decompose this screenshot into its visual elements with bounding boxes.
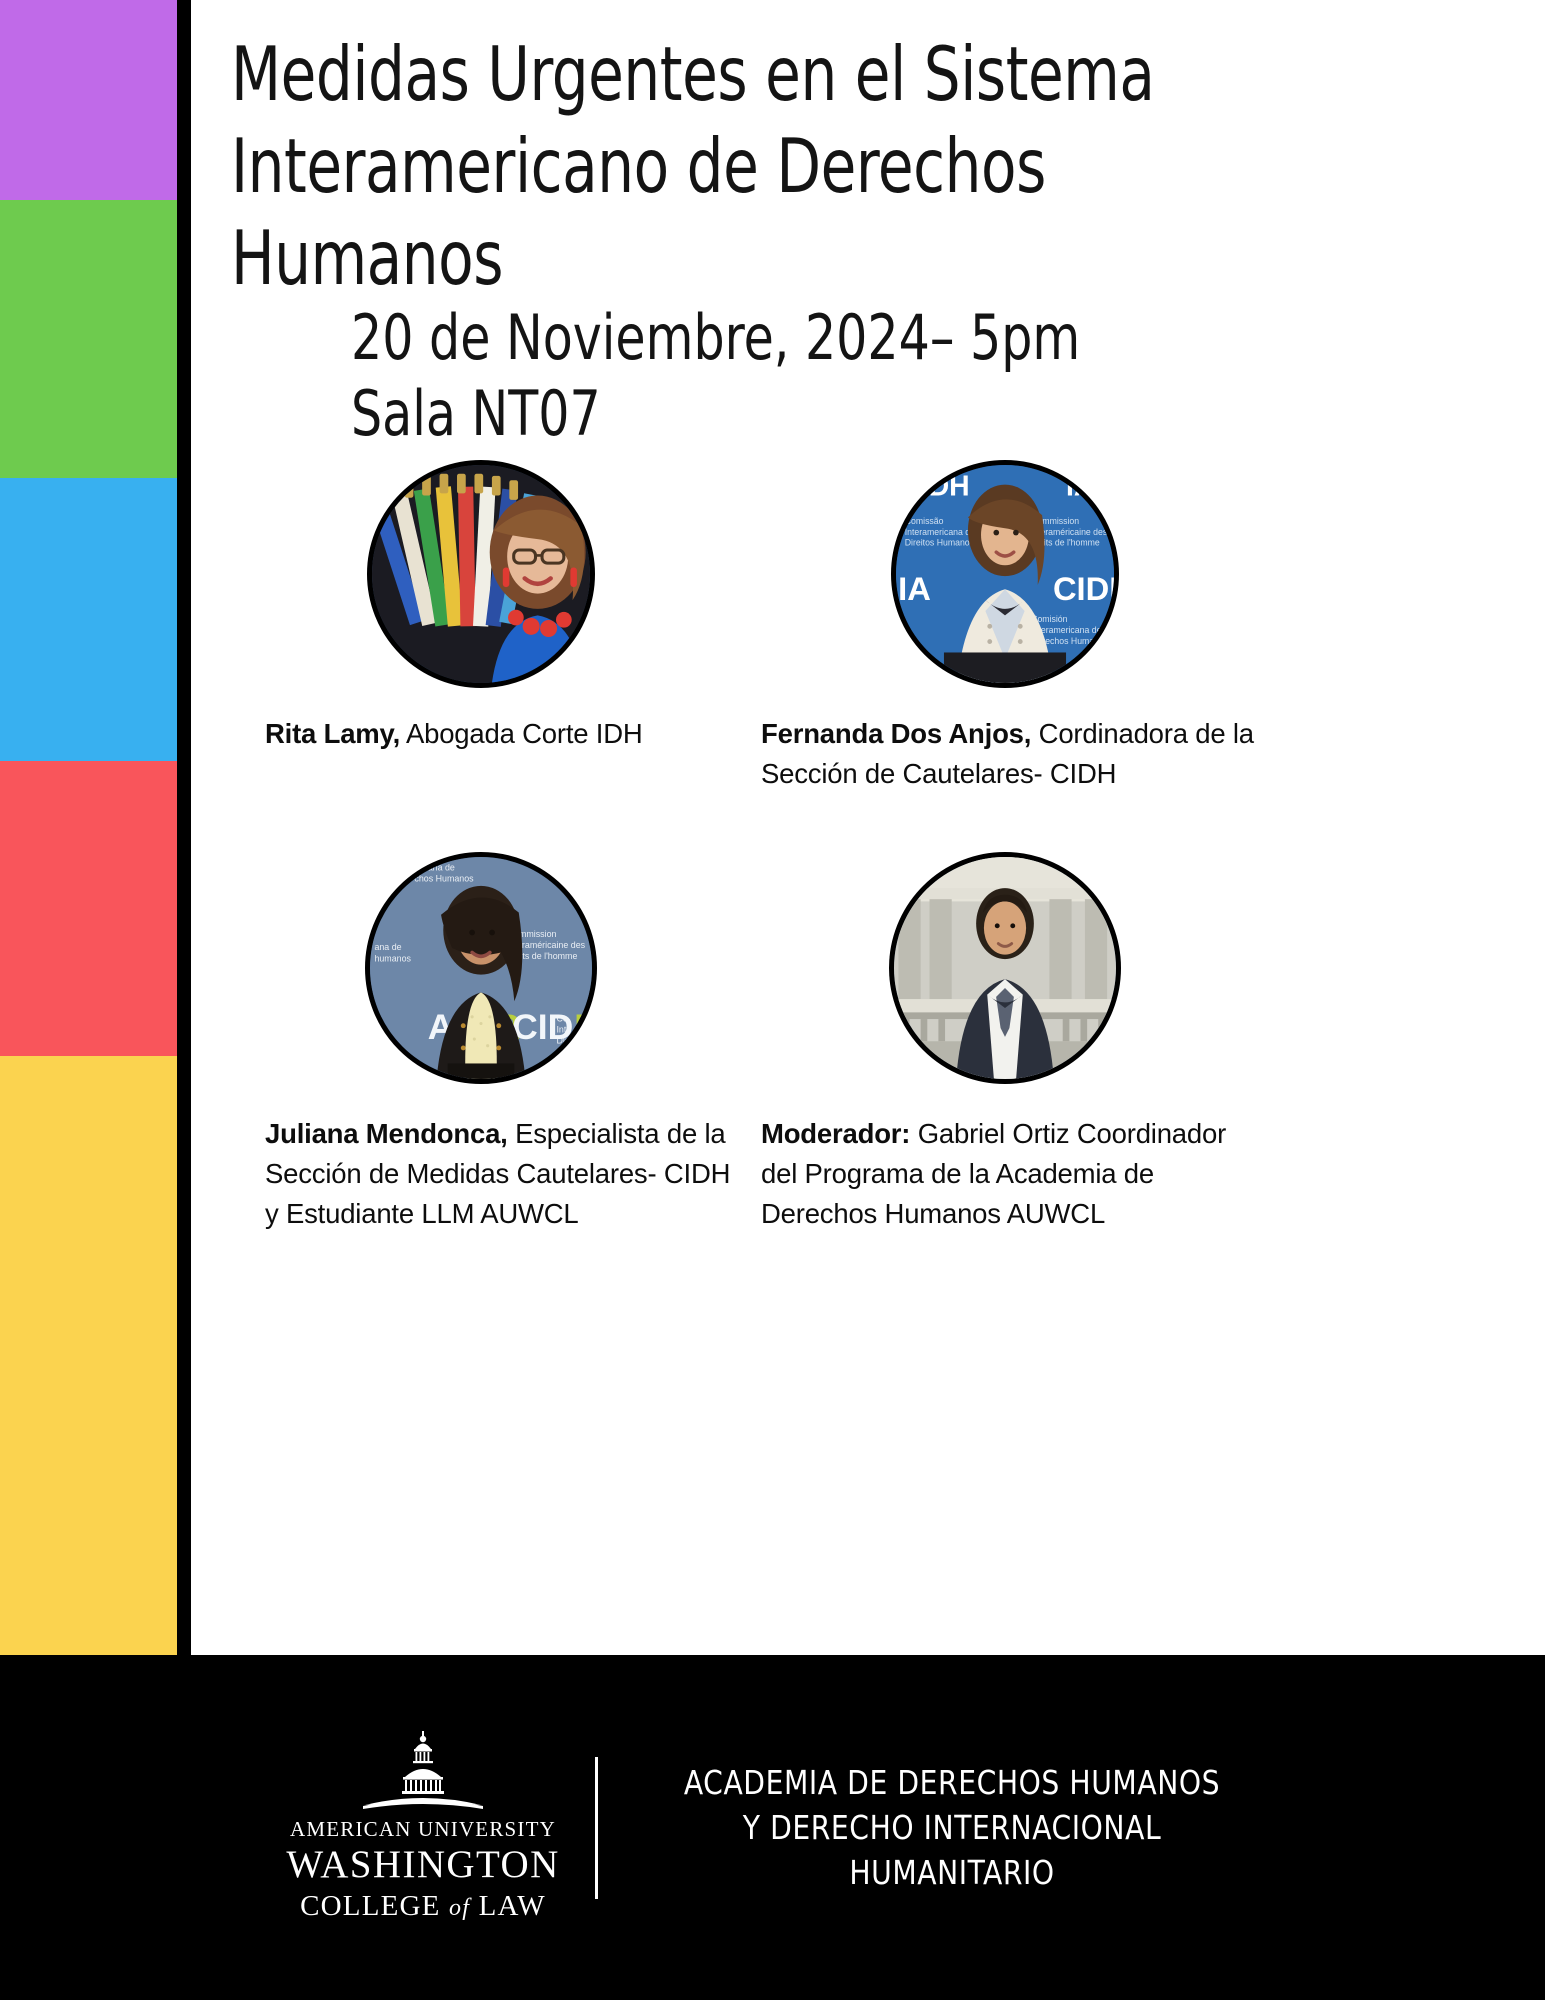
avatar	[367, 460, 595, 688]
rail-black-divider	[177, 0, 191, 1655]
avatar-wrap	[231, 460, 731, 688]
speaker-caption: Rita Lamy, Abogada Corte IDH	[231, 714, 731, 754]
speaker-row-2: ana dechos Humanos ana dehumanos Commiss…	[191, 852, 1545, 1234]
avatar	[889, 852, 1121, 1084]
speaker-name: Rita Lamy,	[265, 718, 400, 749]
logo-college: COLLEGE	[300, 1890, 449, 1922]
org-line-1: ACADEMIA DE DERECHOS HUMANOS	[648, 1760, 1256, 1805]
avatar: CIDH IA IA CIDH ComissãoInteramericana d…	[891, 460, 1119, 688]
svg-text:humanos: humanos	[374, 953, 411, 963]
event-date: 20 de Noviembre, 2024– 5pm	[351, 300, 1275, 376]
speaker-role: Abogada Corte IDH	[400, 718, 643, 749]
rail-swatch-green	[0, 200, 177, 478]
event-details: 20 de Noviembre, 2024– 5pm Sala NT07	[351, 300, 1401, 452]
poster-content: Medidas Urgentes en el Sistema Interamer…	[191, 0, 1545, 1655]
footer-divider	[595, 1757, 598, 1899]
svg-text:ana de: ana de	[374, 942, 401, 952]
page-title: Medidas Urgentes en el Sistema Interamer…	[231, 28, 1411, 304]
speaker-row-1: Rita Lamy, Abogada Corte IDH CIDH IA IA …	[191, 460, 1545, 794]
svg-text:IA: IA	[1066, 471, 1094, 503]
title-line-1: Medidas Urgentes en el Sistema	[231, 28, 1246, 120]
event-room: Sala NT07	[351, 376, 1275, 452]
logo-law: LAW	[470, 1890, 546, 1922]
speaker-name: Juliana Mendonca,	[265, 1118, 508, 1149]
speaker-grid: Rita Lamy, Abogada Corte IDH CIDH IA IA …	[191, 460, 1545, 1234]
portrait-rita-lamy-icon	[372, 465, 590, 683]
portrait-gabriel-ortiz-icon	[894, 857, 1116, 1079]
logo-of: of	[449, 1895, 470, 1921]
svg-text:Direitos Humanos: Direitos Humanos	[905, 538, 975, 548]
svg-text:CIDH: CIDH	[1053, 570, 1114, 607]
speaker-name: Fernanda Dos Anjos,	[761, 718, 1031, 749]
avatar-wrap: ana dechos Humanos ana dehumanos Commiss…	[231, 852, 731, 1084]
svg-text:CIDH: CIDH	[900, 471, 969, 503]
avatar-wrap	[755, 852, 1255, 1084]
logo-line-washington: WASHINGTON	[286, 1842, 559, 1888]
color-rail	[0, 0, 177, 1655]
capitol-dome-icon	[363, 1729, 483, 1813]
svg-text:H: H	[574, 1007, 592, 1047]
speaker-card-rita-lamy: Rita Lamy, Abogada Corte IDH	[231, 460, 731, 794]
logo-line-college-of-law: COLLEGE of LAW	[300, 1888, 546, 1926]
rail-swatch-yellow	[0, 1056, 177, 1655]
speaker-name: Moderador:	[761, 1118, 910, 1149]
logo-line-university: AMERICAN UNIVERSITY	[290, 1817, 556, 1842]
footer-bar: AMERICAN UNIVERSITY WASHINGTON COLLEGE o…	[0, 1655, 1545, 2000]
svg-text:ana de: ana de	[428, 862, 455, 872]
title-line-3: Humanos	[231, 212, 1246, 304]
speaker-card-gabriel-ortiz: Moderador: Gabriel Ortiz Coordinador del…	[755, 852, 1255, 1234]
org-line-3: HUMANITARIO	[648, 1850, 1256, 1895]
speaker-caption: Juliana Mendonca, Especialista de la Sec…	[231, 1114, 731, 1234]
svg-text:IA: IA	[898, 570, 931, 607]
speaker-caption: Fernanda Dos Anjos, Cordinadora de la Se…	[755, 714, 1255, 794]
speaker-caption: Moderador: Gabriel Ortiz Coordinador del…	[755, 1114, 1255, 1234]
avatar: ana dechos Humanos ana dehumanos Commiss…	[365, 852, 597, 1084]
title-line-2: Interamericano de Derechos	[231, 120, 1246, 212]
svg-text:Comissão: Comissão	[905, 516, 944, 526]
svg-text:CID: CID	[512, 1007, 573, 1047]
speaker-card-fernanda-dos-anjos: CIDH IA IA CIDH ComissãoInteramericana d…	[755, 460, 1255, 794]
auwcl-logo: AMERICAN UNIVERSITY WASHINGTON COLLEGE o…	[273, 1729, 573, 1926]
rail-swatch-purple	[0, 0, 177, 200]
speaker-card-juliana-mendonca: ana dechos Humanos ana dehumanos Commiss…	[231, 852, 731, 1234]
organization-name: ACADEMIA DE DERECHOS HUMANOS Y DERECHO I…	[632, 1760, 1272, 1895]
portrait-fernanda-dos-anjos-icon: CIDH IA IA CIDH ComissãoInteramericana d…	[896, 465, 1114, 683]
svg-text:Interamericana de: Interamericana de	[905, 527, 975, 537]
rail-swatch-blue	[0, 478, 177, 761]
rail-swatch-red	[0, 761, 177, 1056]
portrait-juliana-mendonca-icon: ana dechos Humanos ana dehumanos Commiss…	[370, 857, 592, 1079]
org-line-2: Y DERECHO INTERNACIONAL	[648, 1805, 1256, 1850]
svg-text:chos Humanos: chos Humanos	[414, 873, 474, 883]
avatar-wrap: CIDH IA IA CIDH ComissãoInteramericana d…	[755, 460, 1255, 688]
